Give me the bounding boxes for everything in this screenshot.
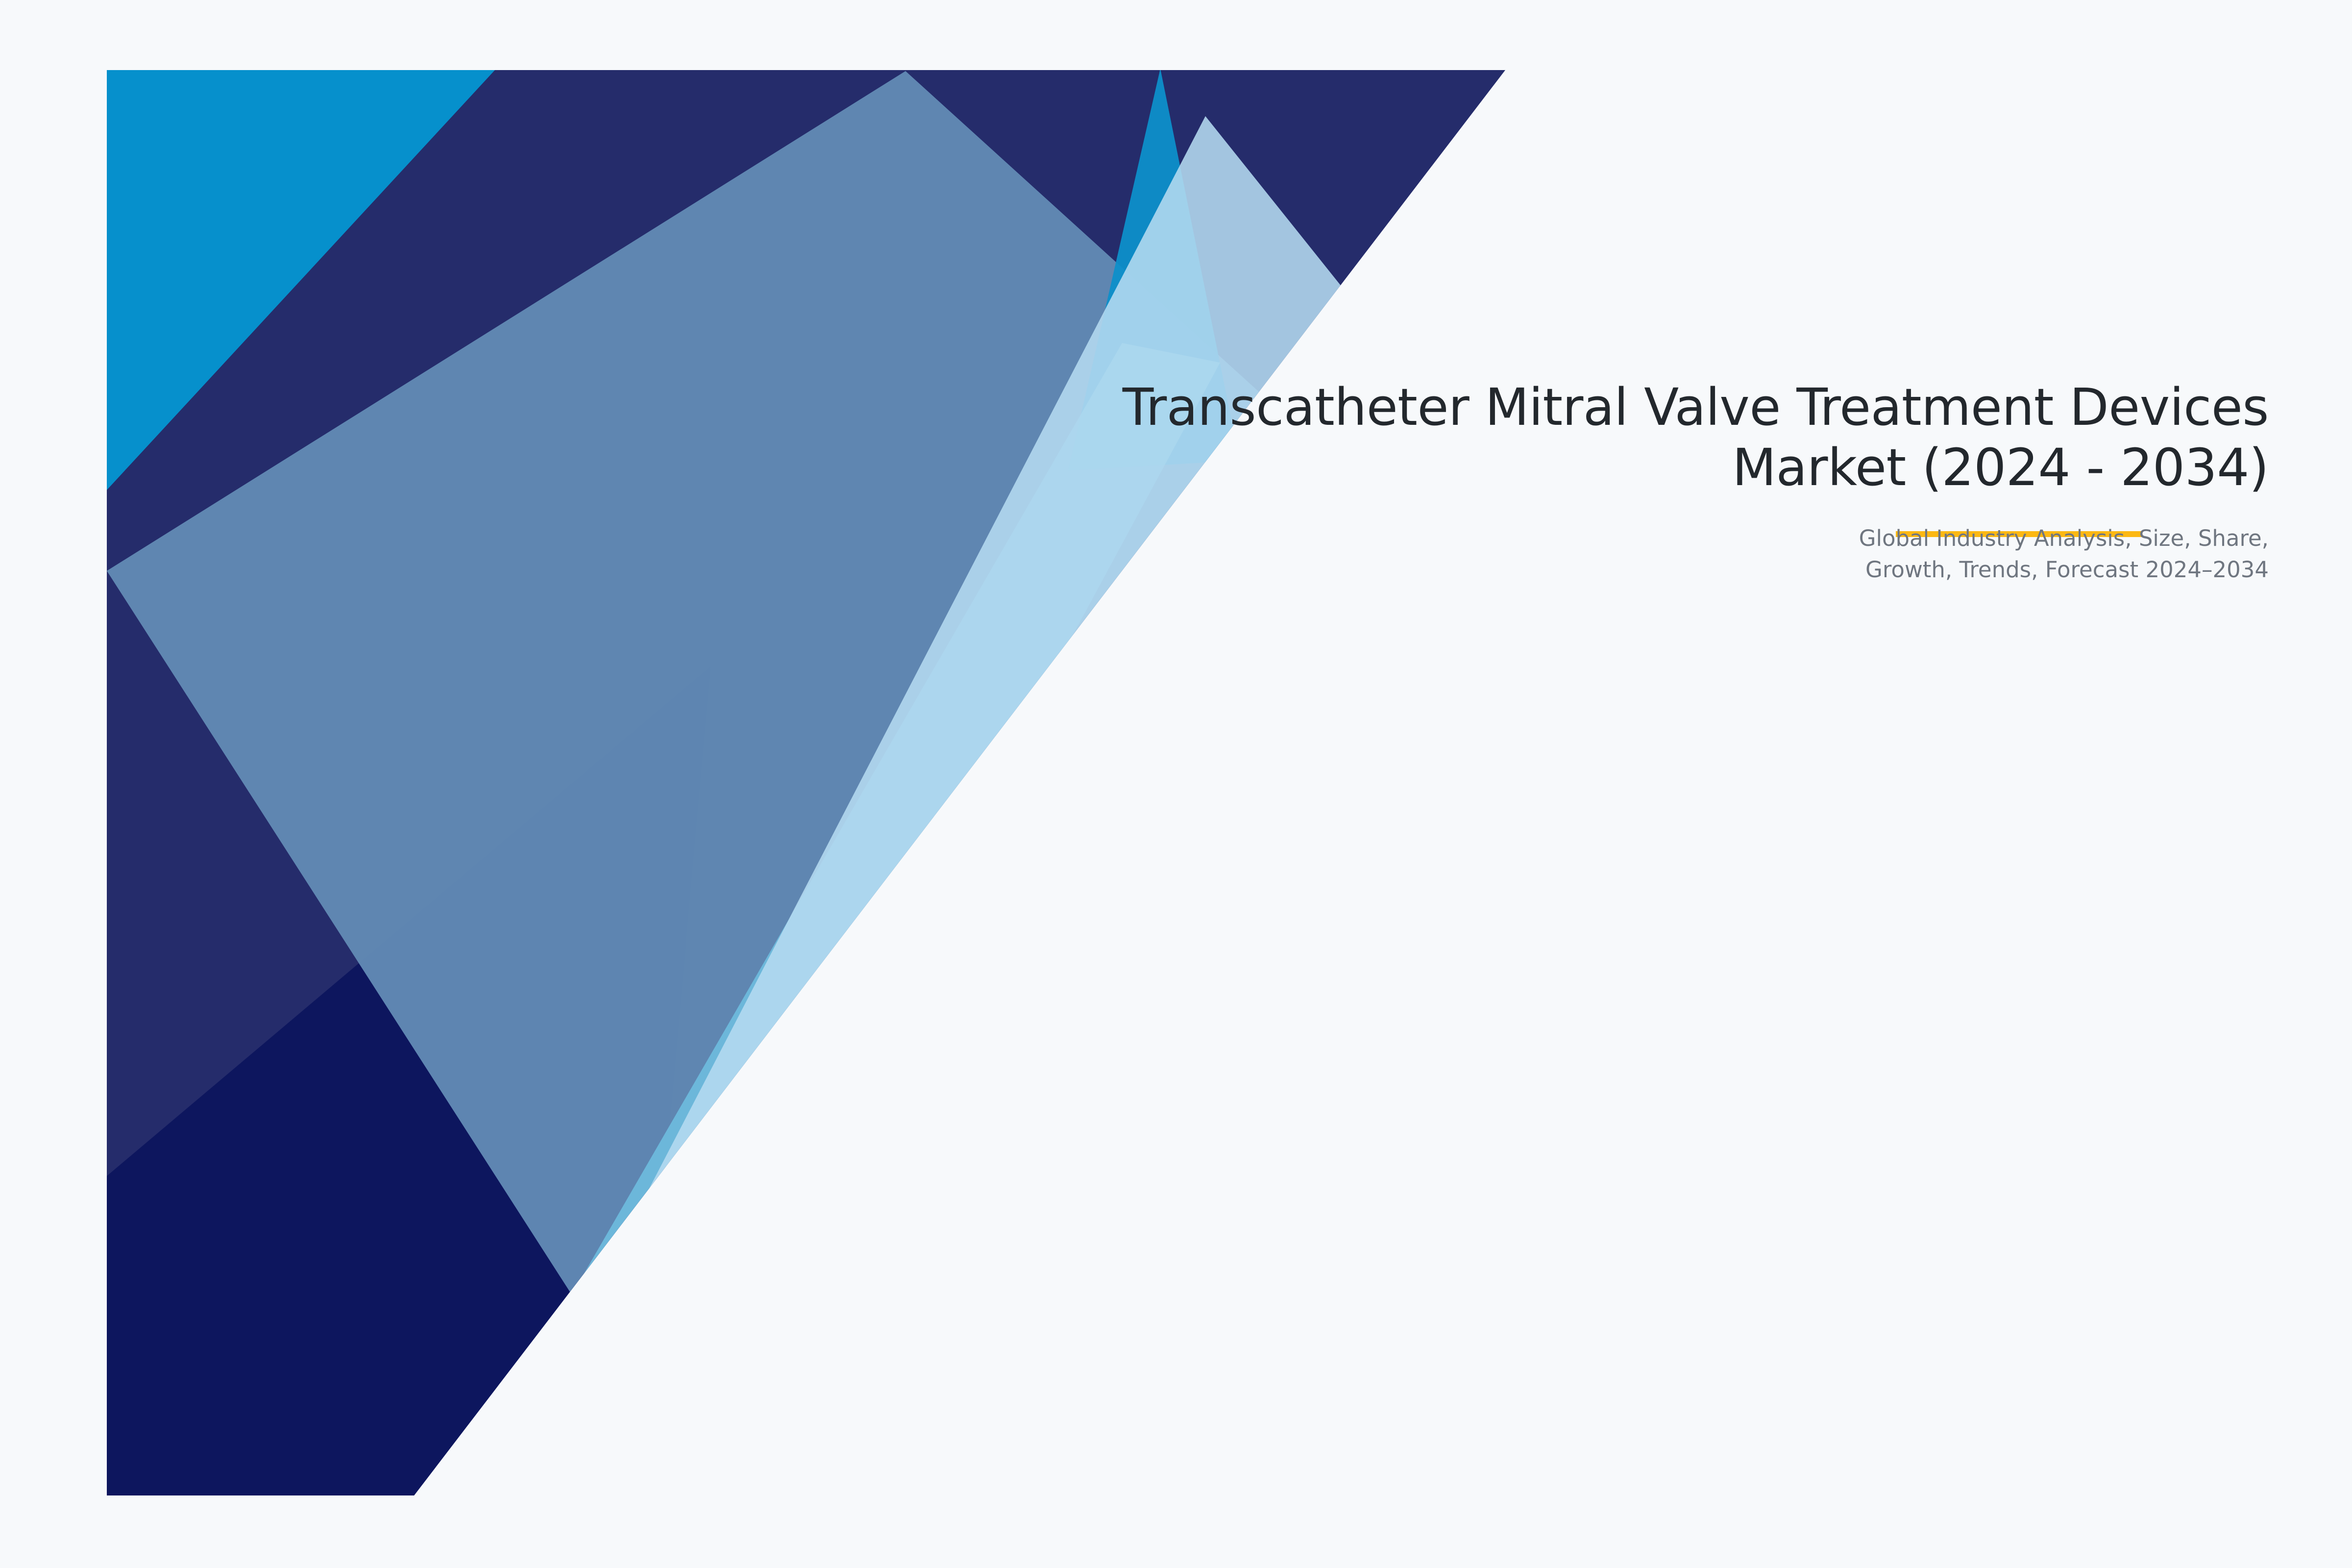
title-block: Transcatheter Mitral Valve Treatment Dev… (1117, 377, 2269, 586)
deep-navy-lower-wedge (107, 666, 710, 1495)
mid-blue-edge-sliver (495, 804, 1186, 1495)
mid-blue-lower-sliver (578, 725, 1421, 1495)
report-cover-page: Transcatheter Mitral Valve Treatment Dev… (0, 0, 2352, 1568)
steel-blue-kite (107, 71, 1367, 1495)
sky-blue-diagonal-band (456, 343, 1220, 1495)
page-subtitle: Global Industry Analysis, Size, Share, G… (1779, 523, 2269, 586)
page-title: Transcatheter Mitral Valve Treatment Dev… (1117, 377, 2269, 497)
cyan-top-left-wedge (107, 70, 1505, 1495)
pale-blue-diagonal-band (490, 116, 1387, 1495)
cover-artwork (0, 0, 2352, 1568)
navy-upper-band (107, 70, 1505, 1495)
